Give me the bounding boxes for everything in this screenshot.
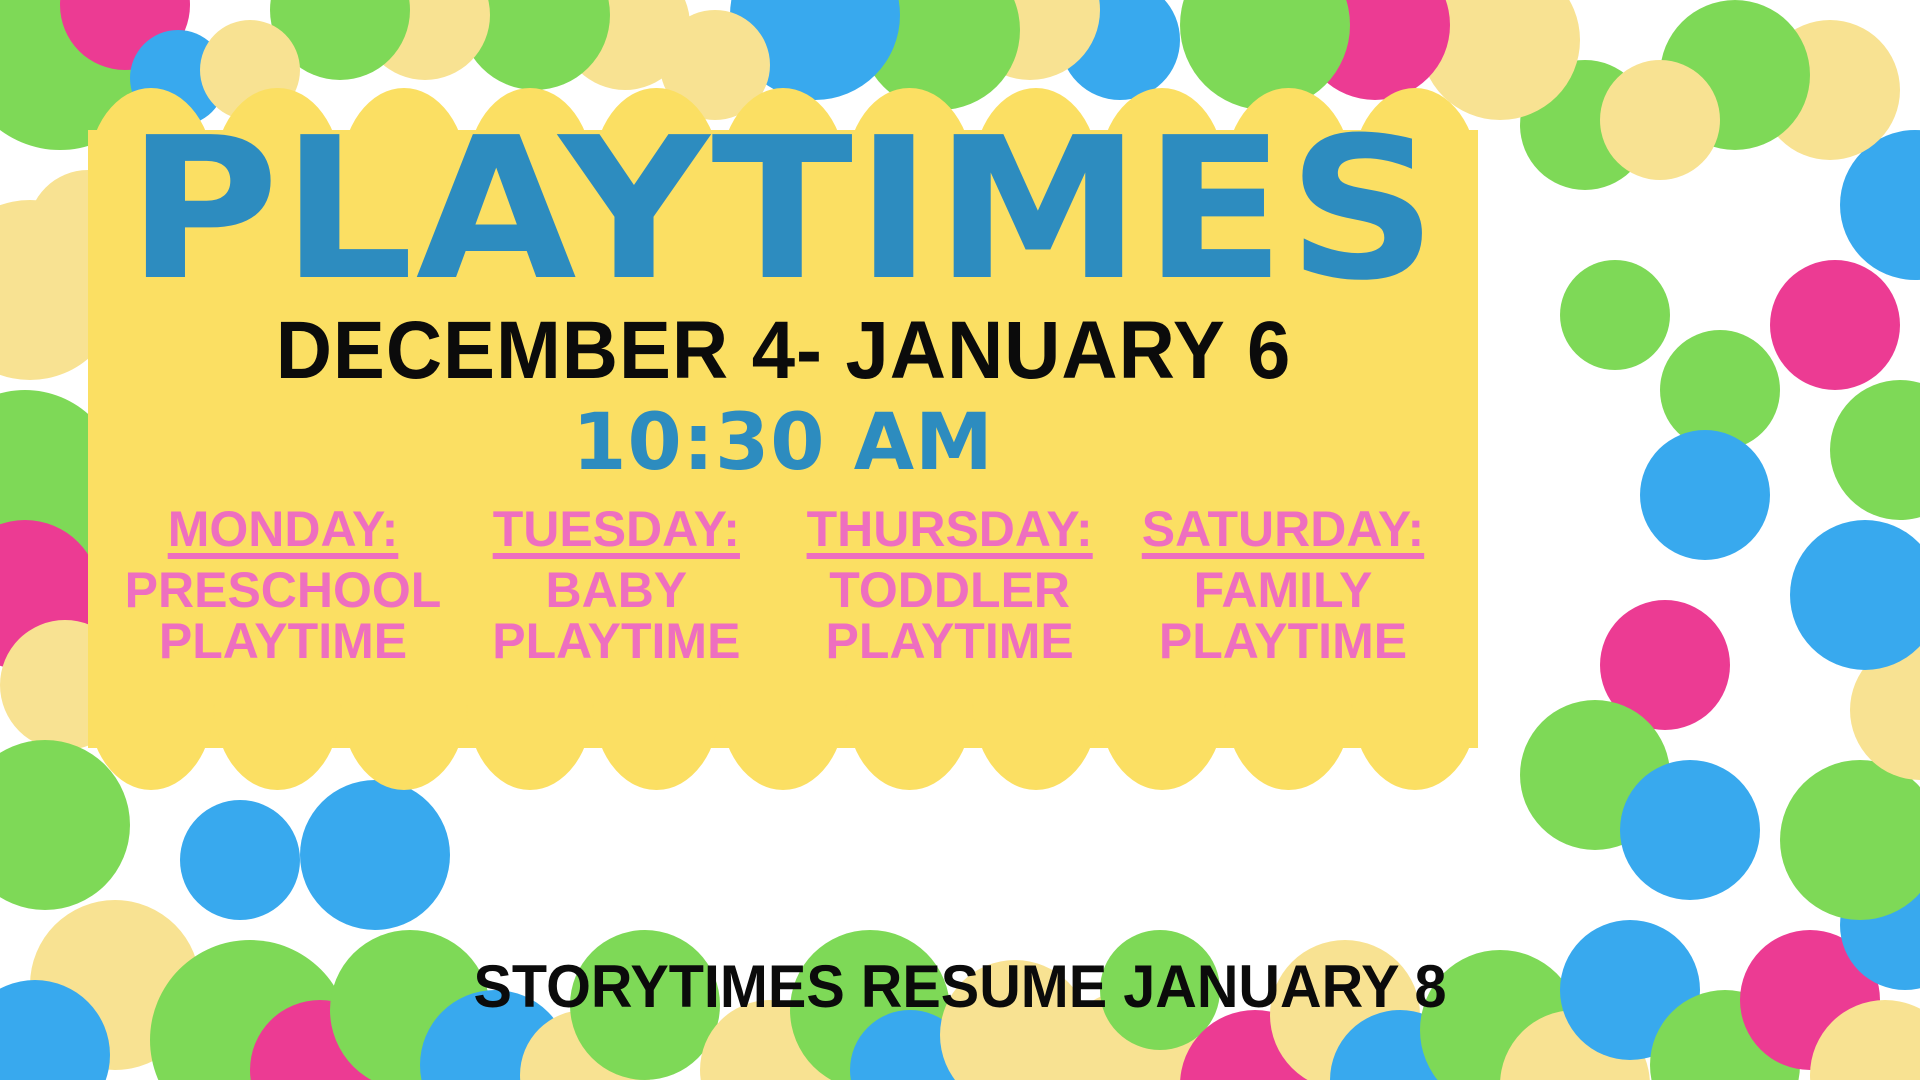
confetti-dot <box>1560 260 1670 370</box>
schedule-program-line: TODDLER <box>790 565 1110 616</box>
schedule-program: PRESCHOOL PLAYTIME <box>123 565 443 667</box>
schedule-program: BABY PLAYTIME <box>456 565 776 667</box>
schedule-column-monday: MONDAY: PRESCHOOL PLAYTIME <box>123 504 443 667</box>
schedule-day-label: TUESDAY: <box>456 504 776 555</box>
confetti-dot <box>1640 430 1770 560</box>
schedule-program: TODDLER PLAYTIME <box>790 565 1110 667</box>
schedule-day-label: THURSDAY: <box>790 504 1110 555</box>
event-time-text: 10:30 AM <box>572 404 993 482</box>
confetti-dot <box>1770 260 1900 390</box>
page-title: PLAYTIMES <box>127 116 1439 304</box>
confetti-dot <box>1780 760 1920 920</box>
schedule-program-line: PLAYTIME <box>456 616 776 667</box>
schedule-program-line: BABY <box>456 565 776 616</box>
schedule-program-line: PLAYTIME <box>1123 616 1443 667</box>
confetti-dot <box>180 800 300 920</box>
schedule-day-label: MONDAY: <box>123 504 443 555</box>
schedule-column-tuesday: TUESDAY: BABY PLAYTIME <box>456 504 776 667</box>
card-content: PLAYTIMES DECEMBER 4- JANUARY 6 10:30 AM… <box>88 88 1478 790</box>
confetti-dot <box>1790 520 1920 670</box>
schedule-program-line: PLAYTIME <box>790 616 1110 667</box>
confetti-dot <box>1830 380 1920 520</box>
weekly-schedule: MONDAY: PRESCHOOL PLAYTIME TUESDAY: BABY… <box>123 504 1443 667</box>
footer-note: STORYTIMES RESUME JANUARY 8 <box>38 952 1881 1021</box>
schedule-day-label: SATURDAY: <box>1123 504 1443 555</box>
schedule-program-line: FAMILY <box>1123 565 1443 616</box>
schedule-column-thursday: THURSDAY: TODDLER PLAYTIME <box>790 504 1110 667</box>
confetti-dot <box>1620 760 1760 900</box>
confetti-dot <box>300 780 450 930</box>
date-range-text: DECEMBER 4- JANUARY 6 <box>275 310 1291 392</box>
schedule-program-line: PRESCHOOL <box>123 565 443 616</box>
yellow-scalloped-card: PLAYTIMES DECEMBER 4- JANUARY 6 10:30 AM… <box>88 88 1478 790</box>
schedule-program: FAMILY PLAYTIME <box>1123 565 1443 667</box>
schedule-program-line: PLAYTIME <box>123 616 443 667</box>
schedule-column-saturday: SATURDAY: FAMILY PLAYTIME <box>1123 504 1443 667</box>
confetti-dot <box>1600 60 1720 180</box>
poster-canvas: PLAYTIMES DECEMBER 4- JANUARY 6 10:30 AM… <box>0 0 1920 1080</box>
